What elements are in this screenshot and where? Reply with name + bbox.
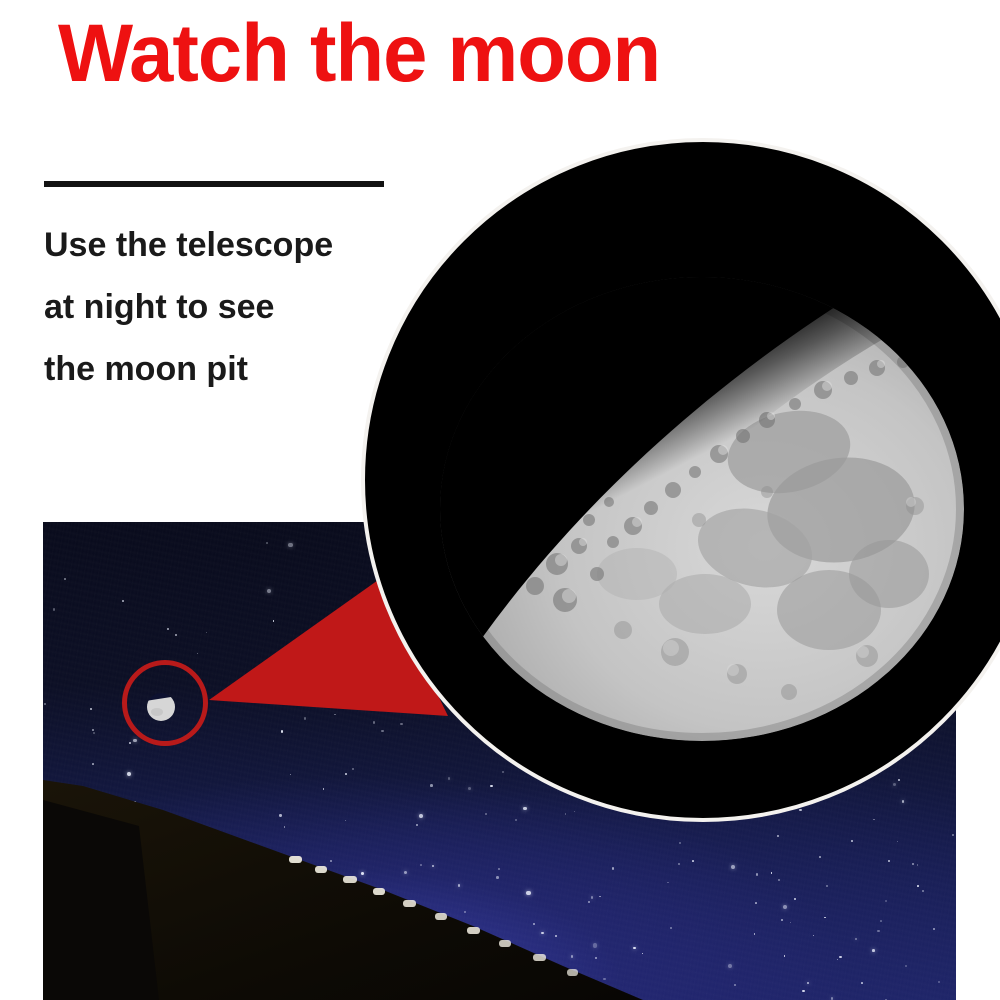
star xyxy=(756,873,758,875)
star xyxy=(267,589,271,593)
star xyxy=(731,865,735,869)
star xyxy=(64,578,66,580)
eyepiece-field xyxy=(365,142,1000,818)
star xyxy=(826,885,828,887)
star xyxy=(885,900,887,902)
star xyxy=(855,938,858,941)
star xyxy=(888,860,890,862)
star xyxy=(197,653,199,655)
star xyxy=(938,981,940,983)
star xyxy=(872,949,875,952)
star xyxy=(352,687,354,689)
star xyxy=(819,856,821,858)
star xyxy=(912,863,914,865)
page-title: Watch the moon xyxy=(58,8,912,100)
star xyxy=(877,930,880,933)
star xyxy=(813,935,815,937)
star xyxy=(692,860,694,862)
star xyxy=(175,634,177,636)
subtitle-line-2: at night to see xyxy=(44,276,394,338)
star xyxy=(781,919,783,921)
star xyxy=(952,834,954,836)
star xyxy=(917,885,919,887)
star xyxy=(917,864,919,866)
star xyxy=(905,965,907,967)
star xyxy=(880,920,882,922)
star xyxy=(783,905,787,909)
star xyxy=(273,620,275,622)
star xyxy=(92,729,94,731)
divider-rule xyxy=(44,181,384,187)
star xyxy=(861,982,863,984)
star xyxy=(837,959,838,960)
star xyxy=(344,679,347,682)
subtitle-line-1: Use the telescope xyxy=(44,214,394,276)
star xyxy=(897,841,899,843)
star xyxy=(206,632,208,634)
small-crescent-moon-icon xyxy=(144,690,178,724)
poster-root: Watch the moon Use the telescope at nigh… xyxy=(0,0,1000,1000)
star xyxy=(167,628,169,630)
star xyxy=(304,717,307,720)
star xyxy=(922,890,924,892)
subtitle-line-3: the moon pit xyxy=(44,338,394,400)
star xyxy=(831,997,834,1000)
star xyxy=(933,928,935,930)
star xyxy=(93,732,95,734)
star xyxy=(778,879,780,881)
star xyxy=(288,543,292,547)
star xyxy=(807,982,810,985)
star xyxy=(755,902,757,904)
star xyxy=(771,872,773,874)
telescope-eyepiece-circle xyxy=(361,138,1000,822)
star xyxy=(728,964,732,968)
star xyxy=(734,984,736,986)
star xyxy=(266,542,268,544)
gibbous-moon-icon xyxy=(437,274,967,744)
star xyxy=(44,703,46,705)
star xyxy=(784,955,786,957)
star xyxy=(90,708,92,710)
subtitle-block: Use the telescope at night to see the mo… xyxy=(44,214,394,400)
star xyxy=(824,917,826,919)
star xyxy=(790,922,792,924)
star xyxy=(839,956,841,958)
star xyxy=(777,835,779,837)
star xyxy=(53,608,55,610)
star xyxy=(122,600,124,602)
star xyxy=(873,819,875,821)
star xyxy=(794,898,796,900)
star xyxy=(851,840,853,842)
star xyxy=(802,990,804,992)
star xyxy=(334,714,336,716)
star xyxy=(754,933,756,935)
star xyxy=(281,730,284,733)
